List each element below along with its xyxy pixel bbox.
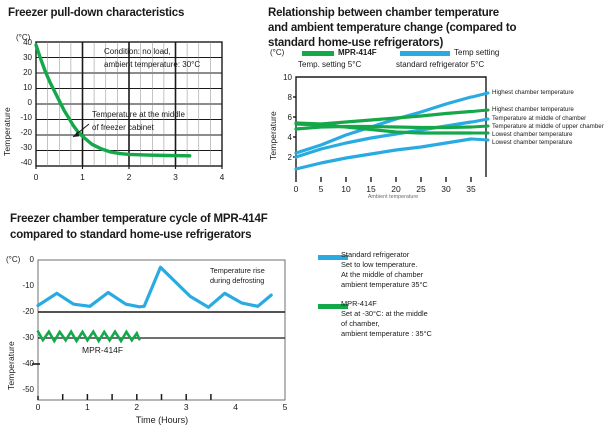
chart3-x-axis-title: Time (Hours) [112, 415, 212, 425]
chart3-annot-temp-rise: Temperature rise [210, 266, 265, 276]
chart2-series-green-middle-upper [296, 127, 471, 130]
chart-panel-freezer-cycle: Freezer chamber temperature cycle of MPR… [0, 200, 616, 440]
chart2-plot [260, 0, 616, 210]
chart3-xtick-4: 4 [226, 402, 246, 412]
chart2-leader-6 [472, 139, 488, 140]
chart1-xtick-4: 4 [212, 172, 232, 182]
chart2-leader-4 [472, 126, 488, 127]
chart-panel-freezer-pulldown: Freezer pull-down characteristics (°C) T… [0, 0, 260, 200]
chart3-legend-mpr-line2: Set at -30°C: at the middle [341, 309, 428, 319]
chart1-xtick-1: 1 [73, 172, 93, 182]
chart1-annot-freezer-cabinet: of freezer cabinet [92, 123, 154, 134]
infographic-root: Freezer pull-down characteristics (°C) T… [0, 0, 616, 440]
chart2-xtick-15: 15 [361, 184, 381, 194]
chart1-plot [0, 0, 260, 200]
chart1-annot-ambient: ambient temperature: 30°C [104, 60, 200, 71]
chart2-xtick-20: 20 [386, 184, 406, 194]
chart2-xticks [296, 177, 471, 182]
chart3-xtick-3: 3 [176, 402, 196, 412]
chart3-legend-mpr-line4: ambient temperature : 35°C [341, 329, 432, 339]
chart3-xtick-5: 5 [275, 402, 295, 412]
chart3-xtick-0: 0 [28, 402, 48, 412]
chart2-xtick-0: 0 [286, 184, 306, 194]
chart3-legend-standard-line3: At the middle of chamber [341, 270, 423, 280]
chart3-xtick-2: 2 [127, 402, 147, 412]
chart3-legend-mpr-line3: of chamber, [341, 319, 380, 329]
chart3-legend-standard-line4: ambient temperature 35°C [341, 280, 428, 290]
chart2-leader-2 [472, 110, 488, 112]
chart1-xtick-3: 3 [166, 172, 186, 182]
chart3-legend-mpr-line1: MPR-414F [341, 299, 377, 309]
chart2-xtick-5: 5 [311, 184, 331, 194]
chart2-linelabel-1: Highest chamber temperature [492, 106, 574, 115]
chart1-xtick-0: 0 [26, 172, 46, 182]
chart2-xtick-30: 30 [436, 184, 456, 194]
chart1-xtick-2: 2 [119, 172, 139, 182]
chart2-xtick-10: 10 [336, 184, 356, 194]
chart3-xtick-1: 1 [77, 402, 97, 412]
chart3-annot-mpr414f: MPR-414F [82, 345, 123, 356]
chart2-linelabel-0: Highest chamber temperature [492, 89, 574, 98]
chart3-legend-standard-line1: Standard refrigerator [341, 250, 409, 260]
chart1-annot-condition: Condition: no load, [104, 47, 171, 58]
chart3-legend-standard-line2: Set to low temperature. [341, 260, 417, 270]
chart-panel-chamber-vs-ambient: Relationship between chamber temperature… [260, 0, 616, 210]
chart3-annot-defrosting: during defrosting [210, 276, 264, 286]
chart1-annot-temp-middle: Temperature at the middle [92, 110, 185, 121]
chart2-xtick-35: 35 [461, 184, 481, 194]
chart2-linelabel-5: Lowest chamber temperature [492, 139, 572, 148]
chart2-xtick-25: 25 [411, 184, 431, 194]
